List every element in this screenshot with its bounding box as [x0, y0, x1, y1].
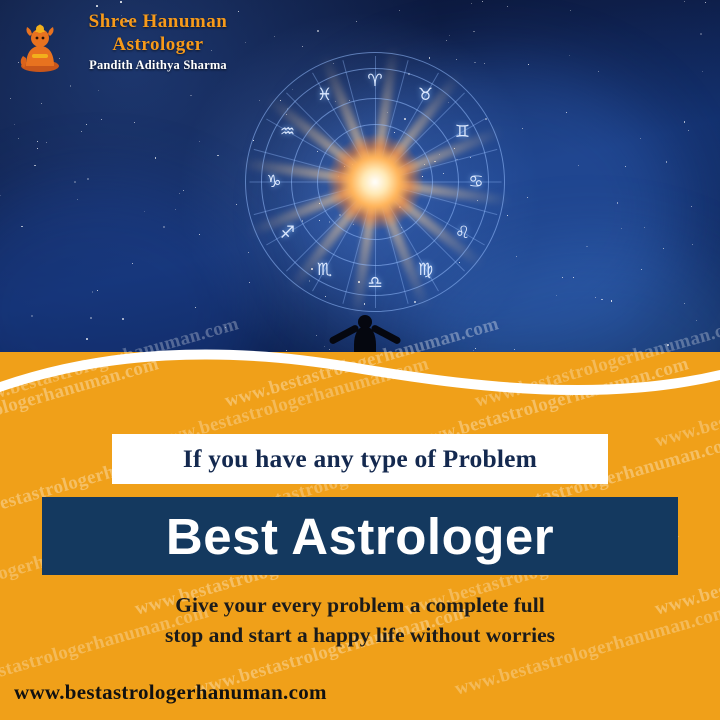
headline-banner: If you have any type of Problem	[112, 434, 608, 484]
zodiac-sign-4: ♌	[450, 220, 476, 246]
hanuman-deity-icon	[16, 16, 64, 74]
website-bar: www.bestastrologerhanuman.com	[0, 672, 720, 720]
page-title: Best Astrologer	[166, 507, 554, 566]
zodiac-sign-6: ♎	[362, 270, 388, 296]
subtext-line-2: stop and start a happy life without worr…	[60, 620, 660, 650]
zodiac-sign-11: ♓	[312, 82, 338, 108]
subtext-block: Give your every problem a complete full …	[60, 590, 660, 650]
zodiac-wheel-icon: ♈♉♊♋♌♍♎♏♐♑♒♓	[245, 52, 505, 312]
subtext-line-1: Give your every problem a complete full	[60, 590, 660, 620]
brand-line-3: Pandith Adithya Sharma	[68, 58, 248, 73]
zodiac-sign-10: ♒	[275, 119, 301, 145]
zodiac-sign-3: ♋	[463, 169, 489, 195]
zodiac-sign-8: ♐	[275, 220, 301, 246]
zodiac-sign-9: ♑	[261, 169, 287, 195]
title-bar: Best Astrologer	[42, 497, 678, 575]
brand-logo: Shree Hanuman Astrologer Pandith Adithya…	[16, 10, 246, 82]
zodiac-sign-0: ♈	[362, 68, 388, 94]
zodiac-sign-7: ♏	[312, 257, 338, 283]
brand-line-1: Shree Hanuman	[68, 10, 248, 33]
zodiac-sign-5: ♍	[413, 257, 439, 283]
center-glow-icon	[327, 134, 423, 230]
brand-line-2: Astrologer	[68, 33, 248, 56]
headline-text: If you have any type of Problem	[183, 444, 537, 474]
website-url[interactable]: www.bestastrologerhanuman.com	[14, 680, 327, 705]
zodiac-sign-1: ♉	[413, 82, 439, 108]
zodiac-sign-2: ♊	[450, 119, 476, 145]
astrology-poster: ♈♉♊♋♌♍♎♏♐♑♒♓ www.bestastrologerhanuman.c…	[0, 0, 720, 720]
